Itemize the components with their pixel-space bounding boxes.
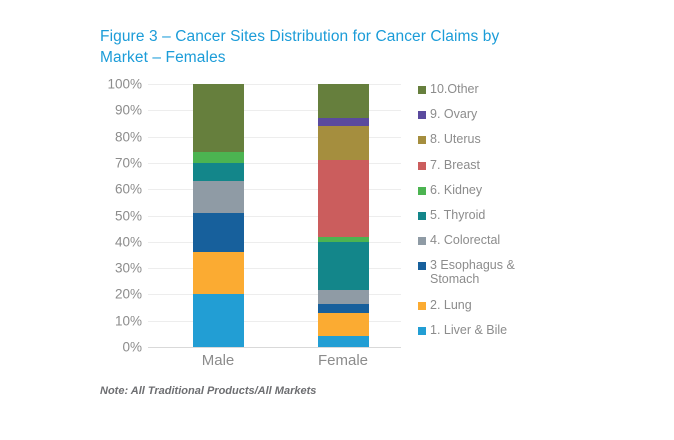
legend-swatch-icon <box>418 302 426 310</box>
bar-segment[interactable] <box>318 84 369 118</box>
plot-area <box>148 84 401 347</box>
y-axis-tick: 0% <box>96 340 142 355</box>
bar-segment[interactable] <box>318 290 369 303</box>
figure-container: Figure 3 – Cancer Sites Distribution for… <box>0 0 674 440</box>
page-title: Figure 3 – Cancer Sites Distribution for… <box>100 26 500 68</box>
gridline <box>148 347 401 348</box>
y-axis-tick: 30% <box>96 261 142 276</box>
legend-swatch-icon <box>418 262 426 270</box>
legend-item-label: 9. Ovary <box>430 107 477 121</box>
y-axis-tick: 70% <box>96 155 142 170</box>
legend-item[interactable]: 8. Uterus <box>418 132 598 146</box>
legend-item-label: 7. Breast <box>430 158 480 172</box>
y-axis-tick: 80% <box>96 129 142 144</box>
legend-swatch-icon <box>418 111 426 119</box>
y-axis-tick: 40% <box>96 234 142 249</box>
legend-item[interactable]: 10.Other <box>418 82 598 96</box>
bar-segment[interactable] <box>193 252 244 294</box>
legend-swatch-icon <box>418 327 426 335</box>
bar-male[interactable] <box>193 84 244 347</box>
bar-segment[interactable] <box>318 336 369 347</box>
legend-item[interactable]: 3 Esophagus & Stomach <box>418 258 598 286</box>
legend-item-label: 10.Other <box>430 82 479 96</box>
legend-swatch-icon <box>418 136 426 144</box>
bar-segment[interactable] <box>318 304 369 313</box>
bar-segment[interactable] <box>193 213 244 252</box>
legend-item-label: 1. Liver & Bile <box>430 323 507 337</box>
legend-item-label: 4. Colorectal <box>430 233 500 247</box>
x-axis-label-male: Male <box>158 352 278 369</box>
bar-segment[interactable] <box>318 313 369 337</box>
legend-item[interactable]: 6. Kidney <box>418 183 598 197</box>
y-axis-tick: 10% <box>96 313 142 328</box>
legend-swatch-icon <box>418 212 426 220</box>
legend-item[interactable]: 2. Lung <box>418 298 598 312</box>
legend-item-label: 3 Esophagus & Stomach <box>430 258 515 286</box>
bar-segment[interactable] <box>318 118 369 126</box>
legend-item[interactable]: 4. Colorectal <box>418 233 598 247</box>
legend-swatch-icon <box>418 86 426 94</box>
bar-segment[interactable] <box>193 152 244 163</box>
legend-item[interactable]: 5. Thyroid <box>418 208 598 222</box>
legend-swatch-icon <box>418 187 426 195</box>
legend-item[interactable]: 7. Breast <box>418 158 598 172</box>
legend-item-label: 2. Lung <box>430 298 472 312</box>
legend-item[interactable]: 9. Ovary <box>418 107 598 121</box>
y-axis-tick: 20% <box>96 287 142 302</box>
bar-segment[interactable] <box>193 84 244 152</box>
legend-item-label: 5. Thyroid <box>430 208 485 222</box>
x-axis-label-female: Female <box>283 352 403 369</box>
y-axis-tick: 50% <box>96 208 142 223</box>
bar-female[interactable] <box>318 84 369 347</box>
y-axis-tick: 100% <box>96 77 142 92</box>
figure-note: Note: All Traditional Products/All Marke… <box>100 385 316 397</box>
y-axis: 0%10%20%30%40%50%60%70%80%90%100% <box>96 84 142 347</box>
bar-segment[interactable] <box>193 181 244 213</box>
legend-item-label: 8. Uterus <box>430 132 481 146</box>
y-axis-tick: 90% <box>96 103 142 118</box>
bar-segment[interactable] <box>193 163 244 181</box>
bar-segment[interactable] <box>193 294 244 347</box>
bar-segment[interactable] <box>318 126 369 160</box>
y-axis-tick: 60% <box>96 182 142 197</box>
legend: 10.Other9. Ovary8. Uterus7. Breast6. Kid… <box>418 82 598 348</box>
legend-item-label: 6. Kidney <box>430 183 482 197</box>
legend-swatch-icon <box>418 237 426 245</box>
bar-segment[interactable] <box>318 242 369 291</box>
bar-segment[interactable] <box>318 160 369 236</box>
legend-item[interactable]: 1. Liver & Bile <box>418 323 598 337</box>
legend-swatch-icon <box>418 162 426 170</box>
